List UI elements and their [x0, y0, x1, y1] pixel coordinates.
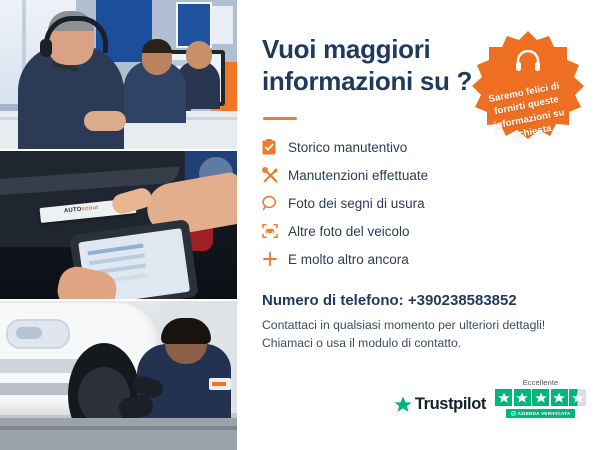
photo-column: AUTOscout: [0, 0, 237, 450]
contact-subtext: Contattaci in qualsiasi momento per ulte…: [262, 317, 572, 352]
star-1: [495, 389, 512, 406]
headset-icon: [515, 50, 541, 72]
vehicle-inspection-photo: AUTOscout: [0, 149, 237, 300]
phone-label: Numero di telefono:: [262, 292, 404, 309]
advertisement-banner: AUTOscout Vuoi maggiori informazioni su …: [0, 0, 600, 450]
star-5-half: [569, 389, 586, 406]
photo-scan-icon: [262, 221, 288, 241]
feature-label: Manutenzioni effettuate: [288, 168, 428, 183]
verified-check-icon: [511, 411, 516, 416]
feature-label: Foto dei segni di usura: [288, 196, 425, 211]
vehicle-lift-platform: [0, 418, 237, 450]
contact-subtext-line-1: Contattaci in qualsiasi momento per ulte…: [262, 317, 572, 335]
verified-business-badge: AZIENDA VERIFICATA: [506, 409, 576, 418]
wrench-screwdriver-icon: [262, 165, 288, 185]
star-4: [551, 389, 568, 406]
trustpilot-logo: Trustpilot: [394, 395, 486, 418]
trustpilot-stars: [495, 389, 586, 406]
feature-label: E molto altro ancora: [288, 252, 409, 267]
phone-number[interactable]: +390238583852: [408, 292, 517, 309]
contact-subtext-line-2: Chiamaci o usa il modulo di contatto.: [262, 335, 572, 353]
agent-hands: [84, 111, 126, 131]
star-2: [514, 389, 531, 406]
background-agent-3-head: [186, 41, 212, 69]
plus-icon: [262, 249, 288, 269]
trustpilot-score-block: Eccellente: [495, 378, 586, 418]
feature-label: Altre foto del veicolo: [288, 224, 410, 239]
feature-item-molto-altro: E molto altro ancora: [262, 245, 512, 273]
trustpilot-rating-label: Eccellente: [523, 378, 559, 387]
feature-item-foto-segni-usura: Foto dei segni di usura: [262, 189, 512, 217]
trustpilot-rating[interactable]: Trustpilot Eccellente: [394, 378, 586, 418]
feature-item-altre-foto-veicolo: Altre foto del veicolo: [262, 217, 512, 245]
title-underline-rule: [263, 117, 297, 120]
verified-business-label: AZIENDA VERIFICATA: [518, 411, 571, 416]
content-panel: Vuoi maggiori informazioni su ? Saremo f…: [237, 0, 600, 450]
magnifier-icon: [262, 193, 288, 213]
car-headlight: [6, 319, 70, 349]
phone-line: Numero di telefono: +390238583852: [262, 292, 562, 309]
feature-item-storico-manutentivo: Storico manutentivo: [262, 133, 512, 161]
call-center-agents-photo: [0, 0, 237, 149]
headset-earcup: [40, 39, 52, 57]
trustpilot-star-icon: [394, 396, 412, 414]
feature-list: Storico manutentivo Manutenzioni effettu…: [262, 133, 512, 273]
tyre-service-photo: [0, 299, 237, 450]
star-3: [532, 389, 549, 406]
mechanic-hair: [161, 318, 211, 344]
feature-item-manutenzioni-effettuate: Manutenzioni effettuate: [262, 161, 512, 189]
clipboard-check-icon: [262, 137, 288, 157]
uniform-logo-badge: [209, 378, 231, 390]
feature-label: Storico manutentivo: [288, 140, 407, 155]
wall-poster-secondary: [211, 6, 233, 44]
trustpilot-wordmark: Trustpilot: [415, 395, 486, 414]
page-title: Vuoi maggiori informazioni su ?: [262, 34, 492, 97]
